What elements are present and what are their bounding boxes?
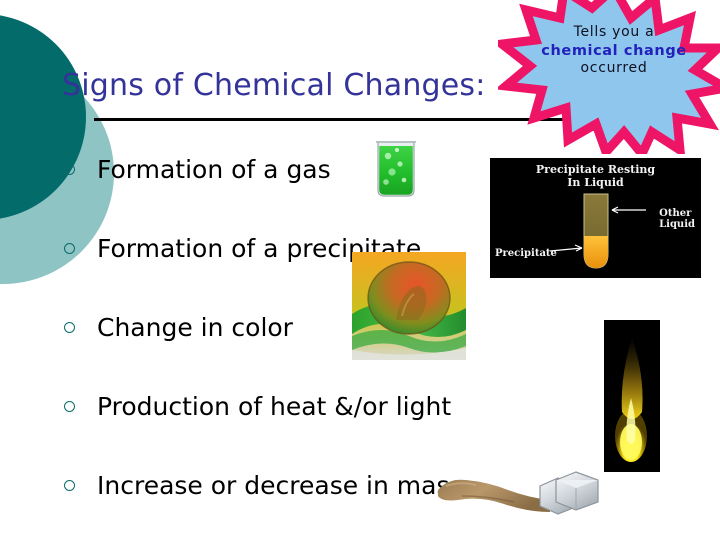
precipitate-in-test-tube-image: Precipitate Resting In Liquid [490, 158, 701, 278]
page-title: Signs of Chemical Changes: [62, 68, 486, 103]
list-item: Change in color [64, 288, 624, 367]
list-item: Production of heat &/or light [64, 367, 624, 446]
other-liquid-line1: Other [659, 208, 695, 219]
mass-balance-weight-image [432, 466, 632, 528]
chemical-change-callout: Tells you a chemical change occurred [498, 0, 720, 154]
list-item-label: Increase or decrease in mass [97, 471, 463, 500]
bullet-circle-icon [64, 322, 75, 333]
list-item-label: Change in color [97, 313, 293, 342]
precipitate-other-liquid-label: Other Liquid [659, 208, 695, 230]
list-item-label: Formation of a gas [97, 155, 331, 184]
slide-canvas: Signs of Chemical Changes: Formation of … [0, 0, 720, 540]
green-bubbling-beaker-image [366, 120, 426, 200]
other-liquid-line2: Liquid [659, 219, 695, 230]
callout-text: Tells you a chemical change occurred [498, 24, 720, 78]
yellow-flame-image [604, 320, 660, 472]
list-item-label: Production of heat &/or light [97, 392, 451, 421]
callout-line-3: occurred [498, 60, 720, 78]
precipitate-label: Precipitate [495, 248, 557, 259]
callout-line-1: Tells you a [498, 24, 720, 42]
bullet-circle-icon [64, 243, 75, 254]
bullet-circle-icon [64, 480, 75, 491]
penny-color-change-image [352, 252, 466, 360]
callout-line-2: chemical change [498, 42, 720, 60]
bullet-circle-icon [64, 401, 75, 412]
bullet-circle-icon [64, 164, 75, 175]
